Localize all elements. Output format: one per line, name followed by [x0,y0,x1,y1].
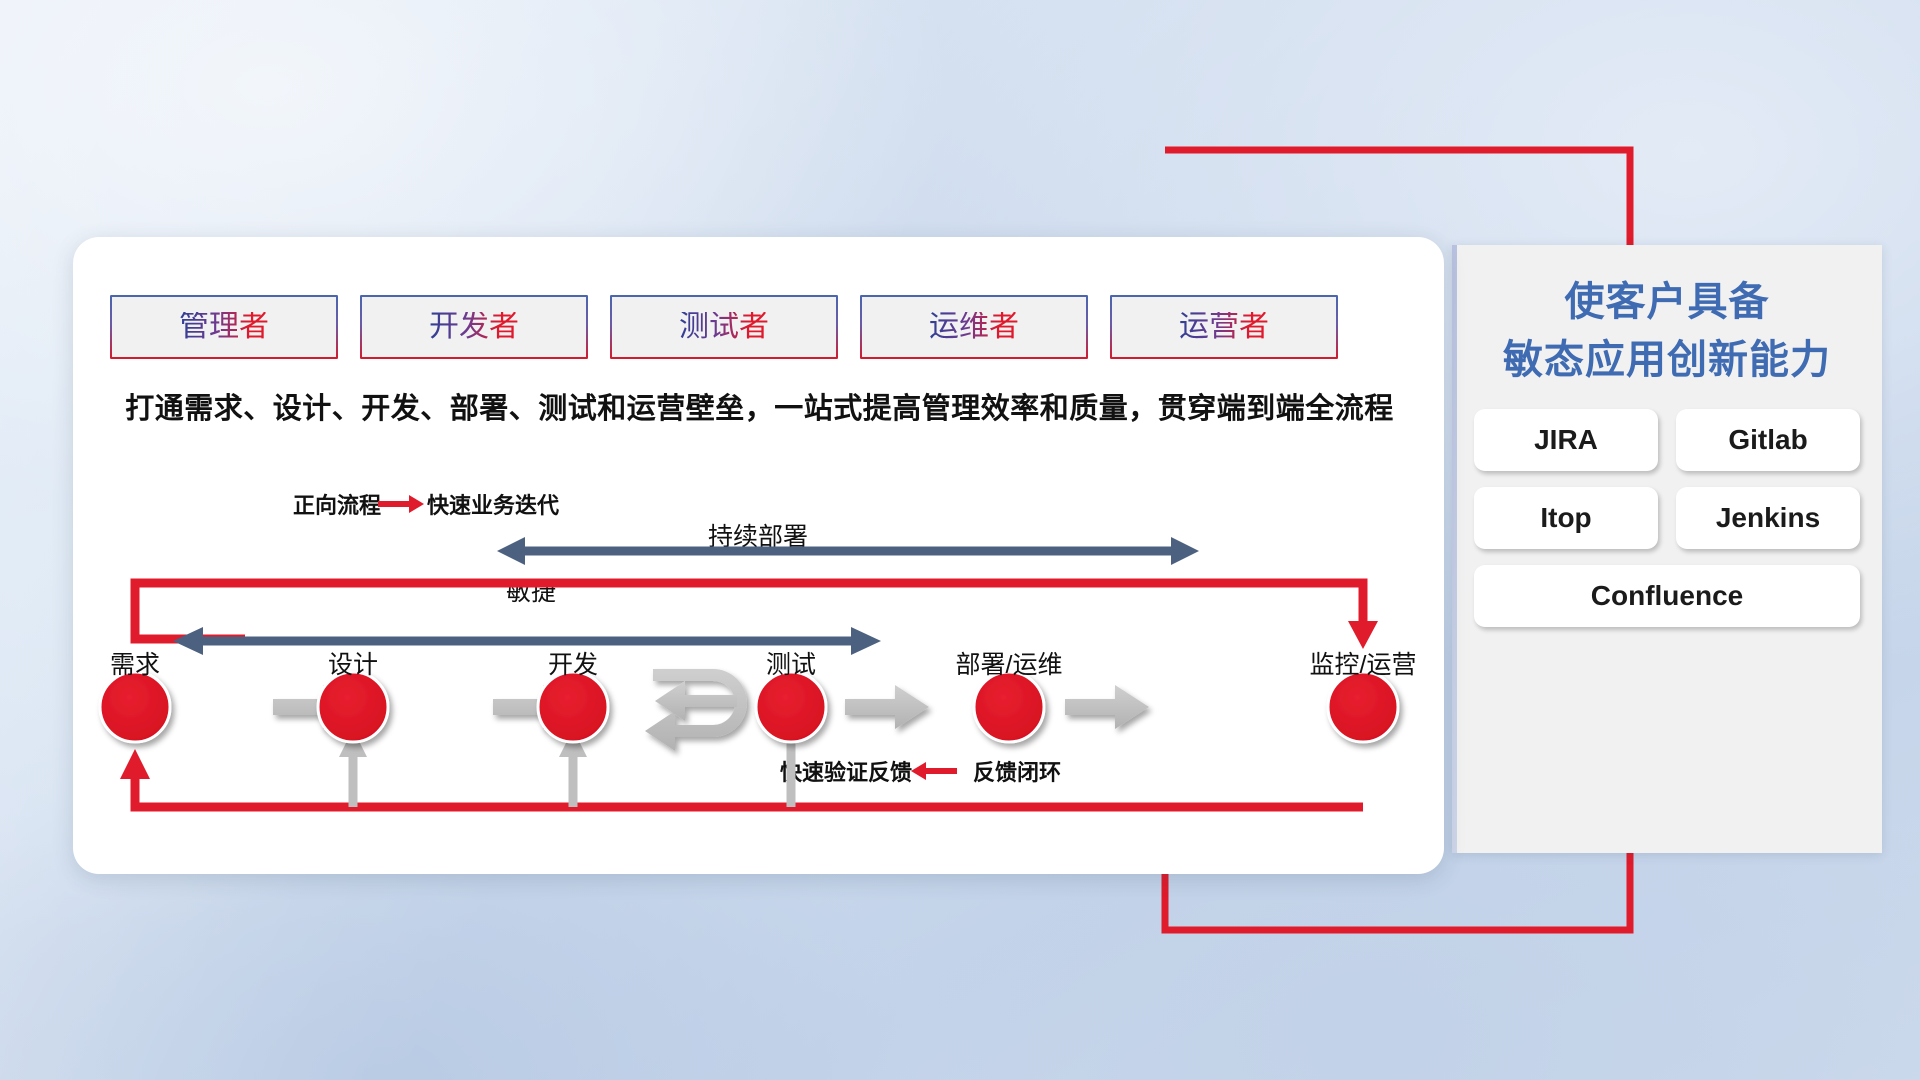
role-box-1[interactable]: 管理者 [110,295,338,359]
continuous-deployment-span-arrow [497,537,1199,565]
role-box-label: 运维者 [929,312,1019,342]
role-box-label: 管理者 [179,312,269,342]
role-box-3[interactable]: 测试者 [610,295,838,359]
stage-label-6: 监控/运营 [1310,645,1417,681]
role-box-label: 运营者 [1179,312,1269,342]
tool-chip-jira[interactable]: JIRA [1474,409,1658,471]
role-box-row: 管理者开发者测试者运维者运营者 [110,295,1338,359]
panel-title-line1: 使客户具备 [1462,273,1872,331]
panel-title-line2: 敏态应用创新能力 [1462,331,1872,389]
role-box-4[interactable]: 运维者 [860,295,1088,359]
tool-chip-confluence[interactable]: Confluence [1474,565,1860,627]
panel-heading: 使客户具备 敏态应用创新能力 [1452,245,1882,393]
stage-label-1: 需求 [110,645,160,681]
iteration-loop-arrow-icon [645,669,747,751]
role-box-2[interactable]: 开发者 [360,295,588,359]
right-panel: 使客户具备 敏态应用创新能力 JIRAGitlabItopJenkinsConf… [1452,245,1882,853]
panel-left-edge [1452,245,1457,853]
forward-flow-label-right: 快速业务迭代 [427,488,559,520]
forward-flow-arrow-icon [378,495,424,513]
stage-label-2: 设计 [328,645,378,681]
role-box-label: 开发者 [429,312,519,342]
tool-chip-list: JIRAGitlabItopJenkinsConfluence [1452,393,1882,627]
red-outer-loop [120,583,1378,807]
tool-chip-jenkins[interactable]: Jenkins [1676,487,1860,549]
main-card: 管理者开发者测试者运维者运营者 打通需求、设计、开发、部署、测试和运营壁垒，一站… [73,237,1444,874]
role-box-label: 测试者 [679,312,769,342]
stage-label-4: 测试 [766,645,816,681]
headline-text: 打通需求、设计、开发、部署、测试和运营壁垒，一站式提高管理效率和质量，贯穿端到端… [107,385,1412,427]
forward-flow-label-left: 正向流程 [293,488,381,520]
role-box-5[interactable]: 运营者 [1110,295,1338,359]
stage-label-3: 开发 [548,645,598,681]
stage-label-5: 部署/运维 [956,645,1063,681]
tool-chip-itop[interactable]: Itop [1474,487,1658,549]
tool-chip-gitlab[interactable]: Gitlab [1676,409,1860,471]
devops-flow-diagram [73,529,1444,829]
